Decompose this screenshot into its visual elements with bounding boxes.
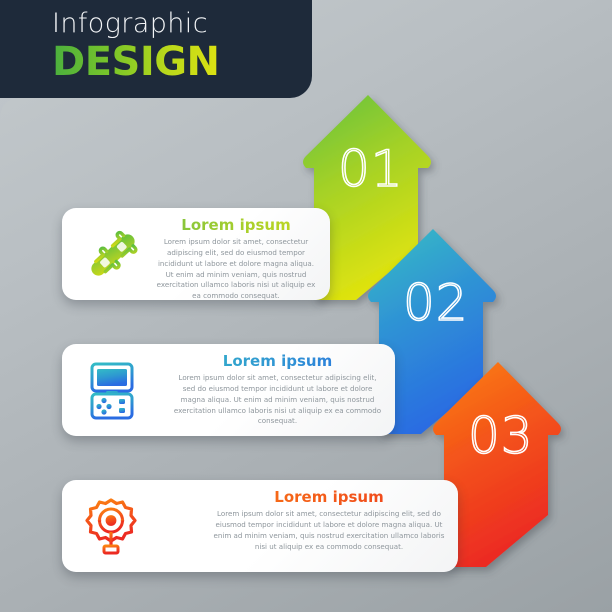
info-card-03[interactable]: Lorem ipsum Lorem ipsum dolor sit amet, … — [62, 480, 458, 572]
header-title-line1: Infographic — [52, 10, 208, 37]
info-card-02-heading: Lorem ipsum — [172, 353, 383, 370]
info-card-01[interactable]: Lorem ipsum Lorem ipsum dolor sit amet, … — [62, 208, 330, 300]
info-card-02-text: Lorem ipsum Lorem ipsum dolor sit amet, … — [172, 353, 383, 427]
info-card-02[interactable]: Lorem ipsum Lorem ipsum dolor sit amet, … — [62, 344, 395, 436]
info-card-01-text: Lorem ipsum Lorem ipsum dolor sit amet, … — [154, 217, 318, 302]
info-card-02-body: Lorem ipsum dolor sit amet, consectetur … — [172, 373, 383, 427]
handheld-game-console-icon — [80, 358, 146, 424]
info-card-03-heading: Lorem ipsum — [212, 489, 446, 506]
skateboard-icon — [80, 222, 146, 288]
infographic-canvas: Infographic DESIGN 01 — [0, 0, 612, 612]
info-card-03-text: Lorem ipsum Lorem ipsum dolor sit amet, … — [212, 489, 446, 552]
baby-rattle-icon — [80, 494, 146, 560]
header-title-line2: DESIGN — [52, 42, 220, 82]
header-banner: Infographic DESIGN — [0, 0, 312, 98]
info-card-01-body: Lorem ipsum dolor sit amet, consectetur … — [154, 237, 318, 302]
info-card-01-heading: Lorem ipsum — [154, 217, 318, 234]
info-card-03-body: Lorem ipsum dolor sit amet, consectetur … — [212, 509, 446, 552]
